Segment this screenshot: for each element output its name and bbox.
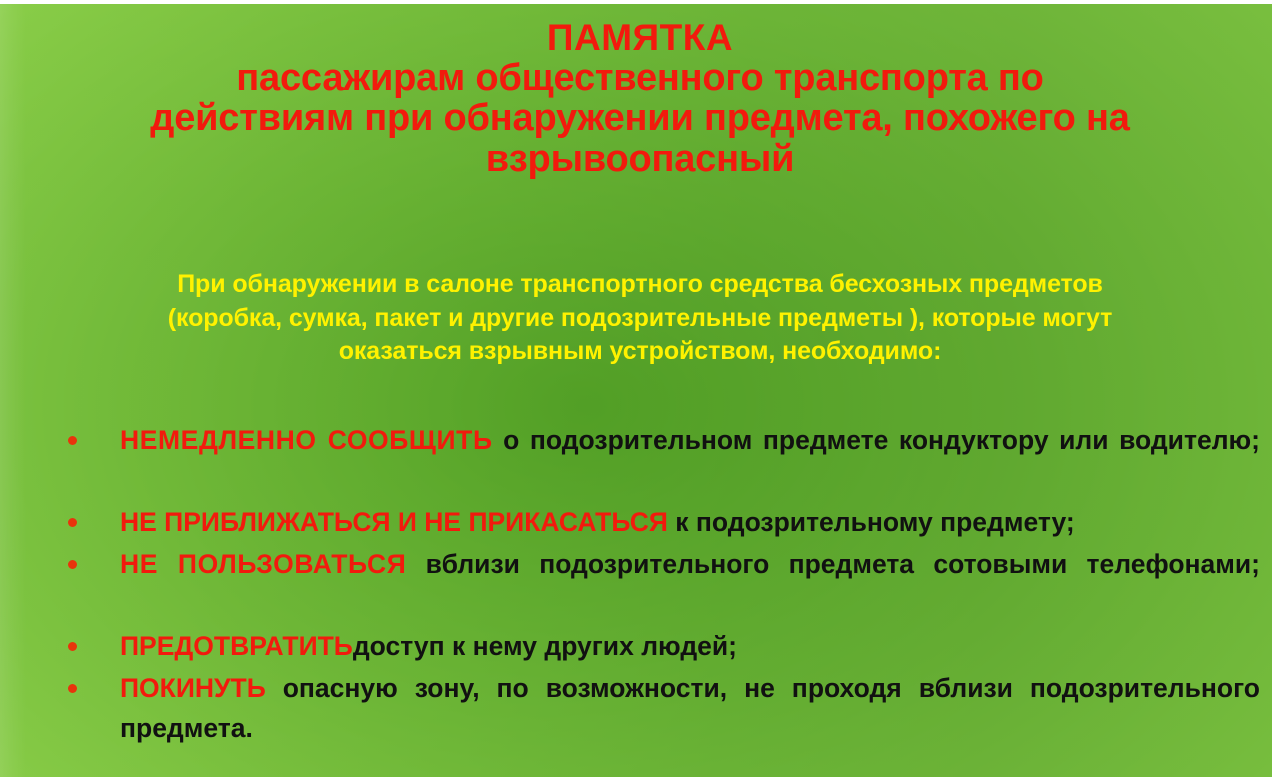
list-item-rest: доступ к нему других людей; bbox=[353, 631, 737, 661]
intro-line-3: оказаться взрывным устройством, необходи… bbox=[56, 335, 1224, 369]
title-line-4: взрывоопасный bbox=[24, 139, 1256, 180]
title-line-2: пассажирам общественного транспорта по bbox=[24, 58, 1256, 99]
list-item-text: НЕ ПОЛЬЗОВАТЬСЯ вблизи подозрительного п… bbox=[120, 544, 1260, 624]
list-item-text: НЕМЕДЛЕННО СООБЩИТЬ о подозрительном пре… bbox=[120, 420, 1260, 500]
list-item-highlight: ПОКИНУТЬ bbox=[120, 673, 266, 703]
bullet-dot-icon bbox=[68, 560, 77, 569]
list-item: НЕ ПОЛЬЗОВАТЬСЯ вблизи подозрительного п… bbox=[58, 544, 1260, 624]
list-item-text: ПРЕДОТВРАТИТЬдоступ к нему других людей; bbox=[120, 626, 1260, 666]
list-item: НЕМЕДЛЕННО СООБЩИТЬ о подозрительном пре… bbox=[58, 420, 1260, 500]
list-item-rest: вблизи подозрительного предмета сотовыми… bbox=[406, 549, 1260, 579]
list-item: ПРЕДОТВРАТИТЬдоступ к нему других людей; bbox=[58, 626, 1260, 666]
intro-line-2: (коробка, сумка, пакет и другие подозрит… bbox=[56, 302, 1224, 336]
list-item-rest: о подозрительном предмете кондуктору или… bbox=[493, 425, 1260, 455]
title-line-1: ПАМЯТКА bbox=[24, 18, 1256, 58]
bullet-dot-icon bbox=[68, 684, 77, 693]
list-item: НЕ ПРИБЛИЖАТЬСЯ И НЕ ПРИКАСАТЬСЯ к подоз… bbox=[58, 502, 1260, 542]
list-item-highlight: ПРЕДОТВРАТИТЬ bbox=[120, 631, 353, 661]
bullet-dot-icon bbox=[68, 642, 77, 651]
list-item-rest: к подозрительному предмету; bbox=[668, 507, 1075, 537]
list-item-rest: опасную зону, по возможности, не проходя… bbox=[120, 673, 1260, 743]
bullet-dot-icon bbox=[68, 518, 77, 527]
list-item-text: НЕ ПРИБЛИЖАТЬСЯ И НЕ ПРИКАСАТЬСЯ к подоз… bbox=[120, 502, 1260, 542]
instruction-list: НЕМЕДЛЕННО СООБЩИТЬ о подозрительном пре… bbox=[58, 420, 1260, 777]
list-item-highlight: НЕМЕДЛЕННО СООБЩИТЬ bbox=[120, 425, 493, 455]
intro-paragraph: При обнаружении в салоне транспортного с… bbox=[56, 268, 1224, 369]
poster-content: ПАМЯТКА пассажирам общественного транспо… bbox=[0, 0, 1280, 777]
list-item-highlight: НЕ ПОЛЬЗОВАТЬСЯ bbox=[120, 549, 406, 579]
bullet-dot-icon bbox=[68, 436, 77, 445]
title-line-3: действиям при обнаружении предмета, похо… bbox=[24, 98, 1256, 139]
safety-memo-poster: ПАМЯТКА пассажирам общественного транспо… bbox=[0, 0, 1280, 777]
list-item-text: ПОКИНУТЬ опасную зону, по возможности, н… bbox=[120, 668, 1260, 777]
page-title: ПАМЯТКА пассажирам общественного транспо… bbox=[24, 18, 1256, 180]
list-item: ПОКИНУТЬ опасную зону, по возможности, н… bbox=[58, 668, 1260, 777]
intro-line-1: При обнаружении в салоне транспортного с… bbox=[56, 268, 1224, 302]
list-item-highlight: НЕ ПРИБЛИЖАТЬСЯ И НЕ ПРИКАСАТЬСЯ bbox=[120, 507, 668, 537]
